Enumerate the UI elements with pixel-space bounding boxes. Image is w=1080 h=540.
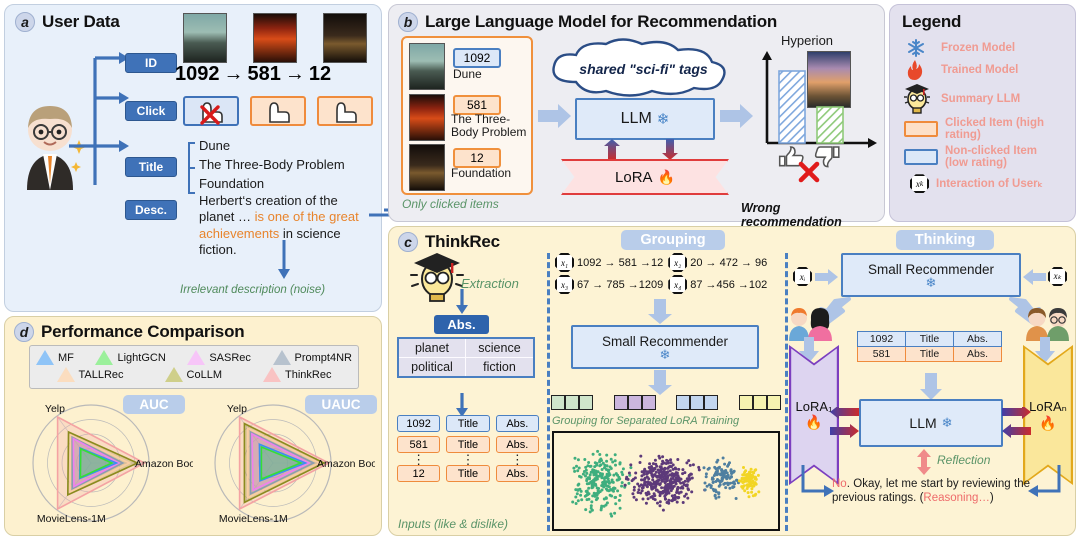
fire-icon xyxy=(906,60,934,80)
clicked-items-frame: 1092 Dune 581 The Three-Body Problem 12 … xyxy=(401,36,533,195)
user-seq-4: 87 →456 →102 xyxy=(690,279,767,291)
group-bar-1 xyxy=(614,395,656,410)
right-user-group-avatars xyxy=(1023,307,1073,341)
arrow-seq-to-recommender xyxy=(647,299,673,325)
thinking-id-1092: 1092 xyxy=(858,332,906,347)
input-abs-12: Abs. xyxy=(496,465,539,482)
legend-item-clicked: Clicked Item (high rating) xyxy=(904,117,1075,141)
uauc-pill: UAUC xyxy=(305,395,377,414)
poster-tbp-b xyxy=(409,94,445,141)
legend-mf: MF xyxy=(36,350,74,365)
poster-dune xyxy=(183,13,227,63)
tag-row-1: political fiction xyxy=(398,358,534,378)
group-bar-3 xyxy=(739,395,781,410)
noise-arrow xyxy=(277,240,291,280)
input-row-581: 581 Title Abs. xyxy=(397,436,539,453)
triangle-icon xyxy=(36,350,54,365)
only-clicked-caption: Only clicked items xyxy=(402,197,499,211)
thinking-title-581: Title xyxy=(906,347,954,362)
arrow-bulb-to-abs xyxy=(455,289,469,315)
group-bar-2 xyxy=(676,395,718,410)
lora-label: LoRA xyxy=(615,169,653,186)
panel-a-connectors xyxy=(67,50,129,185)
snowflake-icon: ❄ xyxy=(926,277,937,288)
lightbulb-icon xyxy=(902,83,934,115)
divider-2 xyxy=(785,253,788,531)
radar-axis-label: Yelp xyxy=(227,403,247,415)
arrow-xi-to-recommender xyxy=(815,269,839,285)
auc-pill: AUC xyxy=(123,395,185,414)
item-name-dune: Dune xyxy=(453,67,482,81)
title-0: Dune xyxy=(199,136,345,155)
arrow-recommender-to-groups xyxy=(647,370,673,396)
thinking-abs-581: Abs. xyxy=(954,347,1002,362)
lora1-llm-arrows xyxy=(830,407,860,443)
poster-foundation-b xyxy=(409,144,445,191)
triangle-icon xyxy=(95,350,113,365)
lora-box: LoRA 🔥 xyxy=(561,159,729,195)
tag-fiction: fiction xyxy=(465,358,534,378)
user-seq-1: 1092 → 581 →12 xyxy=(577,257,663,269)
thinking-llm-label: LLM xyxy=(909,415,936,431)
legend-label-interaction: Interaction of Userₖ xyxy=(936,178,1043,190)
triangle-icon xyxy=(263,367,281,382)
thinking-pill: Thinking xyxy=(896,230,994,250)
lora-n-label: LoRAₙ xyxy=(1029,399,1067,415)
ellipsis-col1: ⋮ xyxy=(397,456,440,463)
arrow-table-to-llm xyxy=(919,373,943,401)
tag-science: science xyxy=(465,338,534,358)
poster-foundation xyxy=(323,13,367,63)
radar-axis-label: Amazon Book xyxy=(135,458,193,470)
octagon-xi-icon: xᵢ xyxy=(793,267,812,286)
red-x-icon xyxy=(798,161,820,183)
panel-c-badge: c xyxy=(398,232,418,252)
thinking-abs-1092: Abs. xyxy=(954,332,1002,347)
arrow-1: → xyxy=(285,63,305,86)
legend-row-0: MF LightGCN SASRec Prompt4NR xyxy=(36,350,352,365)
reason-tail: Reasoning… xyxy=(923,492,989,504)
input-title-1092: Title xyxy=(446,415,489,432)
ellipsis-col3: ⋮ xyxy=(496,456,539,463)
snowflake-icon: ❄ xyxy=(942,415,953,431)
poster-dune-b xyxy=(409,43,445,90)
legend-label-clicked: Clicked Item (high rating) xyxy=(945,117,1055,141)
snowflake-icon: ❄ xyxy=(660,349,671,360)
click-cell-clicked-2 xyxy=(317,96,373,126)
panel-c-title: ThinkRec xyxy=(425,232,500,252)
user-seq-row-0: x₁ 1092 → 581 →12 x₂ 20 → 472 → 96 xyxy=(555,253,779,272)
snowflake-icon: ❄ xyxy=(657,110,670,128)
legend-label-trained: Trained Model xyxy=(941,64,1018,76)
panel-thinkrec: c ThinkRec Extraction Abs. planet scienc… xyxy=(388,226,1076,536)
panel-a-badge: a xyxy=(15,12,35,32)
left-user-group-avatars xyxy=(787,307,837,341)
triangle-icon xyxy=(57,367,75,382)
arrow-xk-to-recommender xyxy=(1023,269,1047,285)
panel-performance-comparison: d Performance Comparison MF LightGCN SAS… xyxy=(4,316,382,536)
label-desc: Desc. xyxy=(125,200,177,220)
loraN-to-reasoning-arrow xyxy=(1027,465,1063,499)
orange-swatch-icon xyxy=(904,121,938,137)
bar-like xyxy=(779,71,805,143)
panel-b-bar-chart: Hyperion xyxy=(751,33,881,198)
poster-three-body-problem xyxy=(253,13,297,63)
noise-caption: Irrelevant description (noise) xyxy=(180,284,325,296)
legend-label-summary-llm: Summary LLM xyxy=(941,93,1020,105)
grouping-pill: Grouping xyxy=(621,230,725,250)
llm-label: LLM xyxy=(621,110,652,128)
panel-user-data: a User Data xyxy=(4,4,382,312)
thinking-small-recommender: Small Recommender ❄ xyxy=(841,253,1021,297)
fire-icon: 🔥 xyxy=(1039,415,1056,432)
legend-item-frozen: Frozen Model xyxy=(906,38,1075,58)
thinking-id-581: 581 xyxy=(858,347,906,362)
radar-axis-label: Yelp xyxy=(45,403,65,415)
radar-axis-label: MovieLens-1M xyxy=(37,513,106,525)
grouping-user-sequences: x₁ 1092 → 581 →12 x₂ 20 → 472 → 96 x₃ 67… xyxy=(555,253,779,294)
arrow-items-to-llm xyxy=(538,103,572,129)
tag-political: political xyxy=(398,358,465,378)
thinking-row-581: 581 Title Abs. xyxy=(858,347,1002,362)
lora-1-label: LoRA₁ xyxy=(796,399,833,414)
octagon-xk-icon: xₖ xyxy=(1048,267,1067,286)
arrow-llm-to-chart xyxy=(720,103,754,129)
item-id-box-12: 12 xyxy=(453,148,501,168)
thinking-title-1092: Title xyxy=(906,332,954,347)
group-color-bars xyxy=(551,395,781,410)
ellipsis-col2: ⋮ xyxy=(446,456,489,463)
legend-prompt4nr: Prompt4NR xyxy=(273,350,352,365)
title-1: The Three-Body Problem xyxy=(199,155,345,174)
user-seq-2: 20 → 472 → 96 xyxy=(690,257,767,269)
item-id-0: 1092 xyxy=(175,63,220,86)
legend-label-frozen: Frozen Model xyxy=(941,42,1015,54)
panel-d-title: Performance Comparison xyxy=(41,322,244,342)
llm-box: LLM ❄ xyxy=(575,98,715,140)
reflection-arrow xyxy=(916,449,932,475)
item-name-foundation: Foundation xyxy=(451,166,511,180)
radar-axis-label: MovieLens-1M xyxy=(219,513,288,525)
input-id-12: 12 xyxy=(397,465,440,482)
chart-title-hyperion: Hyperion xyxy=(781,33,833,48)
panel-b-badge: b xyxy=(398,12,418,32)
method-legend: MF LightGCN SASRec Prompt4NR TALLRec CoL… xyxy=(29,345,359,389)
input-title-581: Title xyxy=(446,436,489,453)
input-abs-1092: Abs. xyxy=(496,415,539,432)
legend-collm: CoLLM xyxy=(165,367,222,382)
panel-llm-for-recommendation: b Large Language Model for Recommendatio… xyxy=(388,4,885,222)
wrong-recommendation-caption: Wrong recommendation xyxy=(741,201,884,229)
legend-title: Legend xyxy=(902,12,1075,32)
triangle-icon xyxy=(165,367,183,382)
triangle-icon xyxy=(187,350,205,365)
inputs-caption: Inputs (like & dislike) xyxy=(398,517,508,531)
reasoning-text: No. Okay, let me start by reviewing the … xyxy=(832,477,1030,505)
thinking-item-table: 1092 Title Abs. 581 Title Abs. xyxy=(857,331,1002,362)
arrow-0: → xyxy=(224,63,244,86)
loraN-llm-arrows xyxy=(1002,407,1032,443)
grouping-caption: Grouping for Separated LoRA Training xyxy=(552,415,739,427)
bar-dislike xyxy=(817,107,843,143)
grouping-scatter-plot xyxy=(552,431,780,531)
input-title-12: Title xyxy=(446,465,489,482)
item-id-1: 581 xyxy=(248,63,281,86)
blue-swatch-icon xyxy=(904,149,938,165)
snowflake-icon xyxy=(906,38,934,58)
click-cell-clicked-1 xyxy=(250,96,306,126)
tag-planet: planet xyxy=(398,338,465,358)
title-brace xyxy=(185,141,197,195)
item-name-tbp: The Three-Body Problem xyxy=(451,113,531,139)
panel-b-title: Large Language Model for Recommendation xyxy=(425,12,777,32)
fire-icon: 🔥 xyxy=(805,414,822,431)
legend-item-nonclicked: Non-clicked Item (low rating) xyxy=(904,145,1075,169)
divider-1 xyxy=(547,253,550,531)
octagon-x4-icon: x₄ xyxy=(668,275,687,294)
radar-axis-label: Amazon Book xyxy=(317,458,375,470)
input-abs-581: Abs. xyxy=(496,436,539,453)
panel-d-badge: d xyxy=(14,322,34,342)
label-click: Click xyxy=(125,101,177,121)
triangle-icon xyxy=(273,350,291,365)
group-bar-0 xyxy=(551,395,593,410)
label-id: ID xyxy=(125,53,177,73)
input-row-ellipsis: ⋮ ⋮ ⋮ xyxy=(397,456,539,463)
tag-table: planet science political fiction xyxy=(397,337,535,378)
panel-legend: Legend Frozen Model Trained Model xyxy=(889,4,1076,222)
legend-item-trained: Trained Model xyxy=(906,60,1075,80)
legend-lightgcn: LightGCN xyxy=(95,350,165,365)
item-id-box-1092: 1092 xyxy=(453,48,501,68)
lora1-to-reasoning-arrow xyxy=(799,465,835,499)
octagon-x1-icon: x₁ xyxy=(555,253,574,272)
label-title: Title xyxy=(125,157,177,177)
octagon-x-icon: xk xyxy=(910,174,929,193)
thinking-row-1092: 1092 Title Abs. xyxy=(858,332,1002,347)
legend-row-1: TALLRec CoLLM ThinkRec xyxy=(36,367,352,382)
octagon-x3-icon: x₃ xyxy=(555,275,574,294)
legend-item-summary-llm: Summary LLM xyxy=(902,83,1075,115)
legend-tallrec: TALLRec xyxy=(57,367,124,382)
thinking-llm-box: LLM ❄ xyxy=(859,399,1003,447)
title-2: Foundation xyxy=(199,174,345,193)
click-cell-no-click xyxy=(183,96,239,126)
legend-item-interaction: xk Interaction of Userₖ xyxy=(910,174,1075,193)
abs-badge: Abs. xyxy=(434,315,489,334)
user-seq-3: 67 → 785 →1209 xyxy=(577,279,663,291)
item-id-2: 12 xyxy=(309,63,331,86)
tag-row-0: planet science xyxy=(398,338,534,358)
reflection-label: Reflection xyxy=(937,453,990,467)
octagon-x2-icon: x₂ xyxy=(668,253,687,272)
reason-end: ) xyxy=(990,492,994,504)
grouping-small-recommender: Small Recommender ❄ xyxy=(571,325,759,369)
cloud-text: shared "sci-fi" tags xyxy=(561,61,726,77)
input-id-581: 581 xyxy=(397,436,440,453)
input-row-12: 12 Title Abs. xyxy=(397,465,539,482)
legend-label-nonclicked: Non-clicked Item (low rating) xyxy=(945,145,1057,169)
input-id-1092: 1092 xyxy=(397,415,440,432)
inputs-table: 1092 Title Abs. 581 Title Abs. ⋮ ⋮ ⋮ 12 … xyxy=(397,415,539,482)
extraction-label: Extraction xyxy=(461,276,519,291)
legend-thinkrec: ThinkRec xyxy=(263,367,331,382)
llm-lora-arrows xyxy=(604,139,690,161)
input-row-1092: 1092 Title Abs. xyxy=(397,415,539,432)
panel-a-title: User Data xyxy=(42,12,120,32)
user-seq-row-1: x₃ 67 → 785 →1209 x₄ 87 →456 →102 xyxy=(555,275,779,294)
legend-sasrec: SASRec xyxy=(187,350,251,365)
fire-icon: 🔥 xyxy=(658,169,675,186)
